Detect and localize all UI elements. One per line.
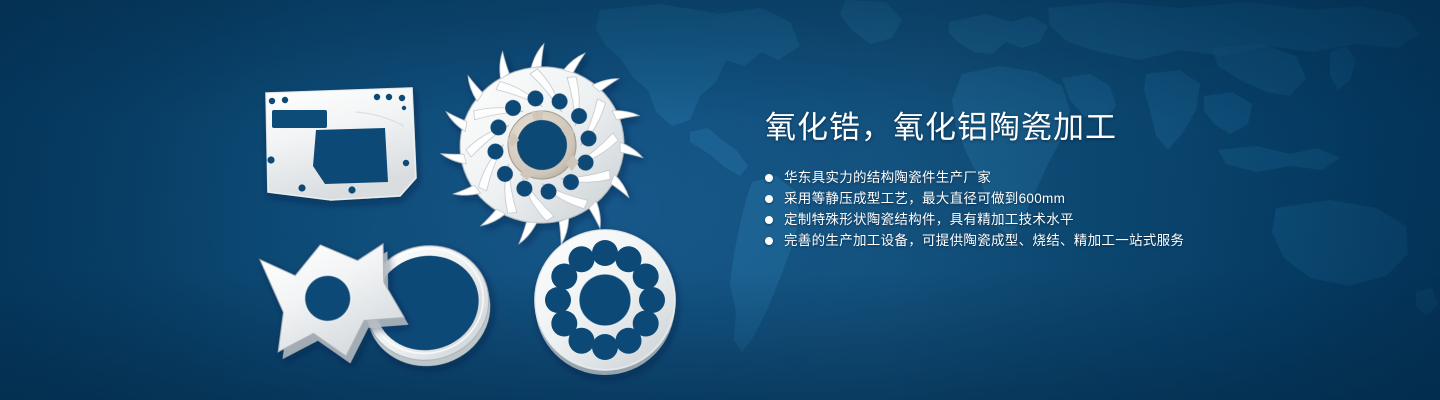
list-item: 华东具实力的结构陶瓷件生产厂家 <box>765 170 1365 185</box>
feature-text: 定制特殊形状陶瓷结构件，具有精加工技术水平 <box>784 212 1074 227</box>
feature-text: 完善的生产加工设备，可提供陶瓷成型、烧结、精加工一站式服务 <box>784 233 1184 248</box>
product-ceramic-plate <box>266 88 416 200</box>
page-title: 氧化锆，氧化铝陶瓷加工 <box>765 108 1365 148</box>
bullet-dot-icon <box>765 195 773 203</box>
feature-text: 采用等静压成型工艺，最大直径可做到600mm <box>784 191 1065 206</box>
product-collage <box>0 0 740 400</box>
list-item: 完善的生产加工设备，可提供陶瓷成型、烧结、精加工一站式服务 <box>765 233 1365 248</box>
bullet-dot-icon <box>765 237 773 245</box>
banner-copy: 氧化锆，氧化铝陶瓷加工 华东具实力的结构陶瓷件生产厂家 采用等静压成型工艺，最大… <box>765 108 1365 254</box>
product-ceramic-impeller <box>428 32 655 259</box>
product-ceramic-perforated-disc <box>535 230 675 375</box>
bullet-dot-icon <box>765 216 773 224</box>
hero-banner: 氧化锆，氧化铝陶瓷加工 华东具实力的结构陶瓷件生产厂家 采用等静压成型工艺，最大… <box>0 0 1440 400</box>
feature-text: 华东具实力的结构陶瓷件生产厂家 <box>784 170 991 185</box>
list-item: 定制特殊形状陶瓷结构件，具有精加工技术水平 <box>765 212 1365 227</box>
feature-list: 华东具实力的结构陶瓷件生产厂家 采用等静压成型工艺，最大直径可做到600mm 定… <box>765 170 1365 248</box>
list-item: 采用等静压成型工艺，最大直径可做到600mm <box>765 191 1365 206</box>
bullet-dot-icon <box>765 174 773 182</box>
